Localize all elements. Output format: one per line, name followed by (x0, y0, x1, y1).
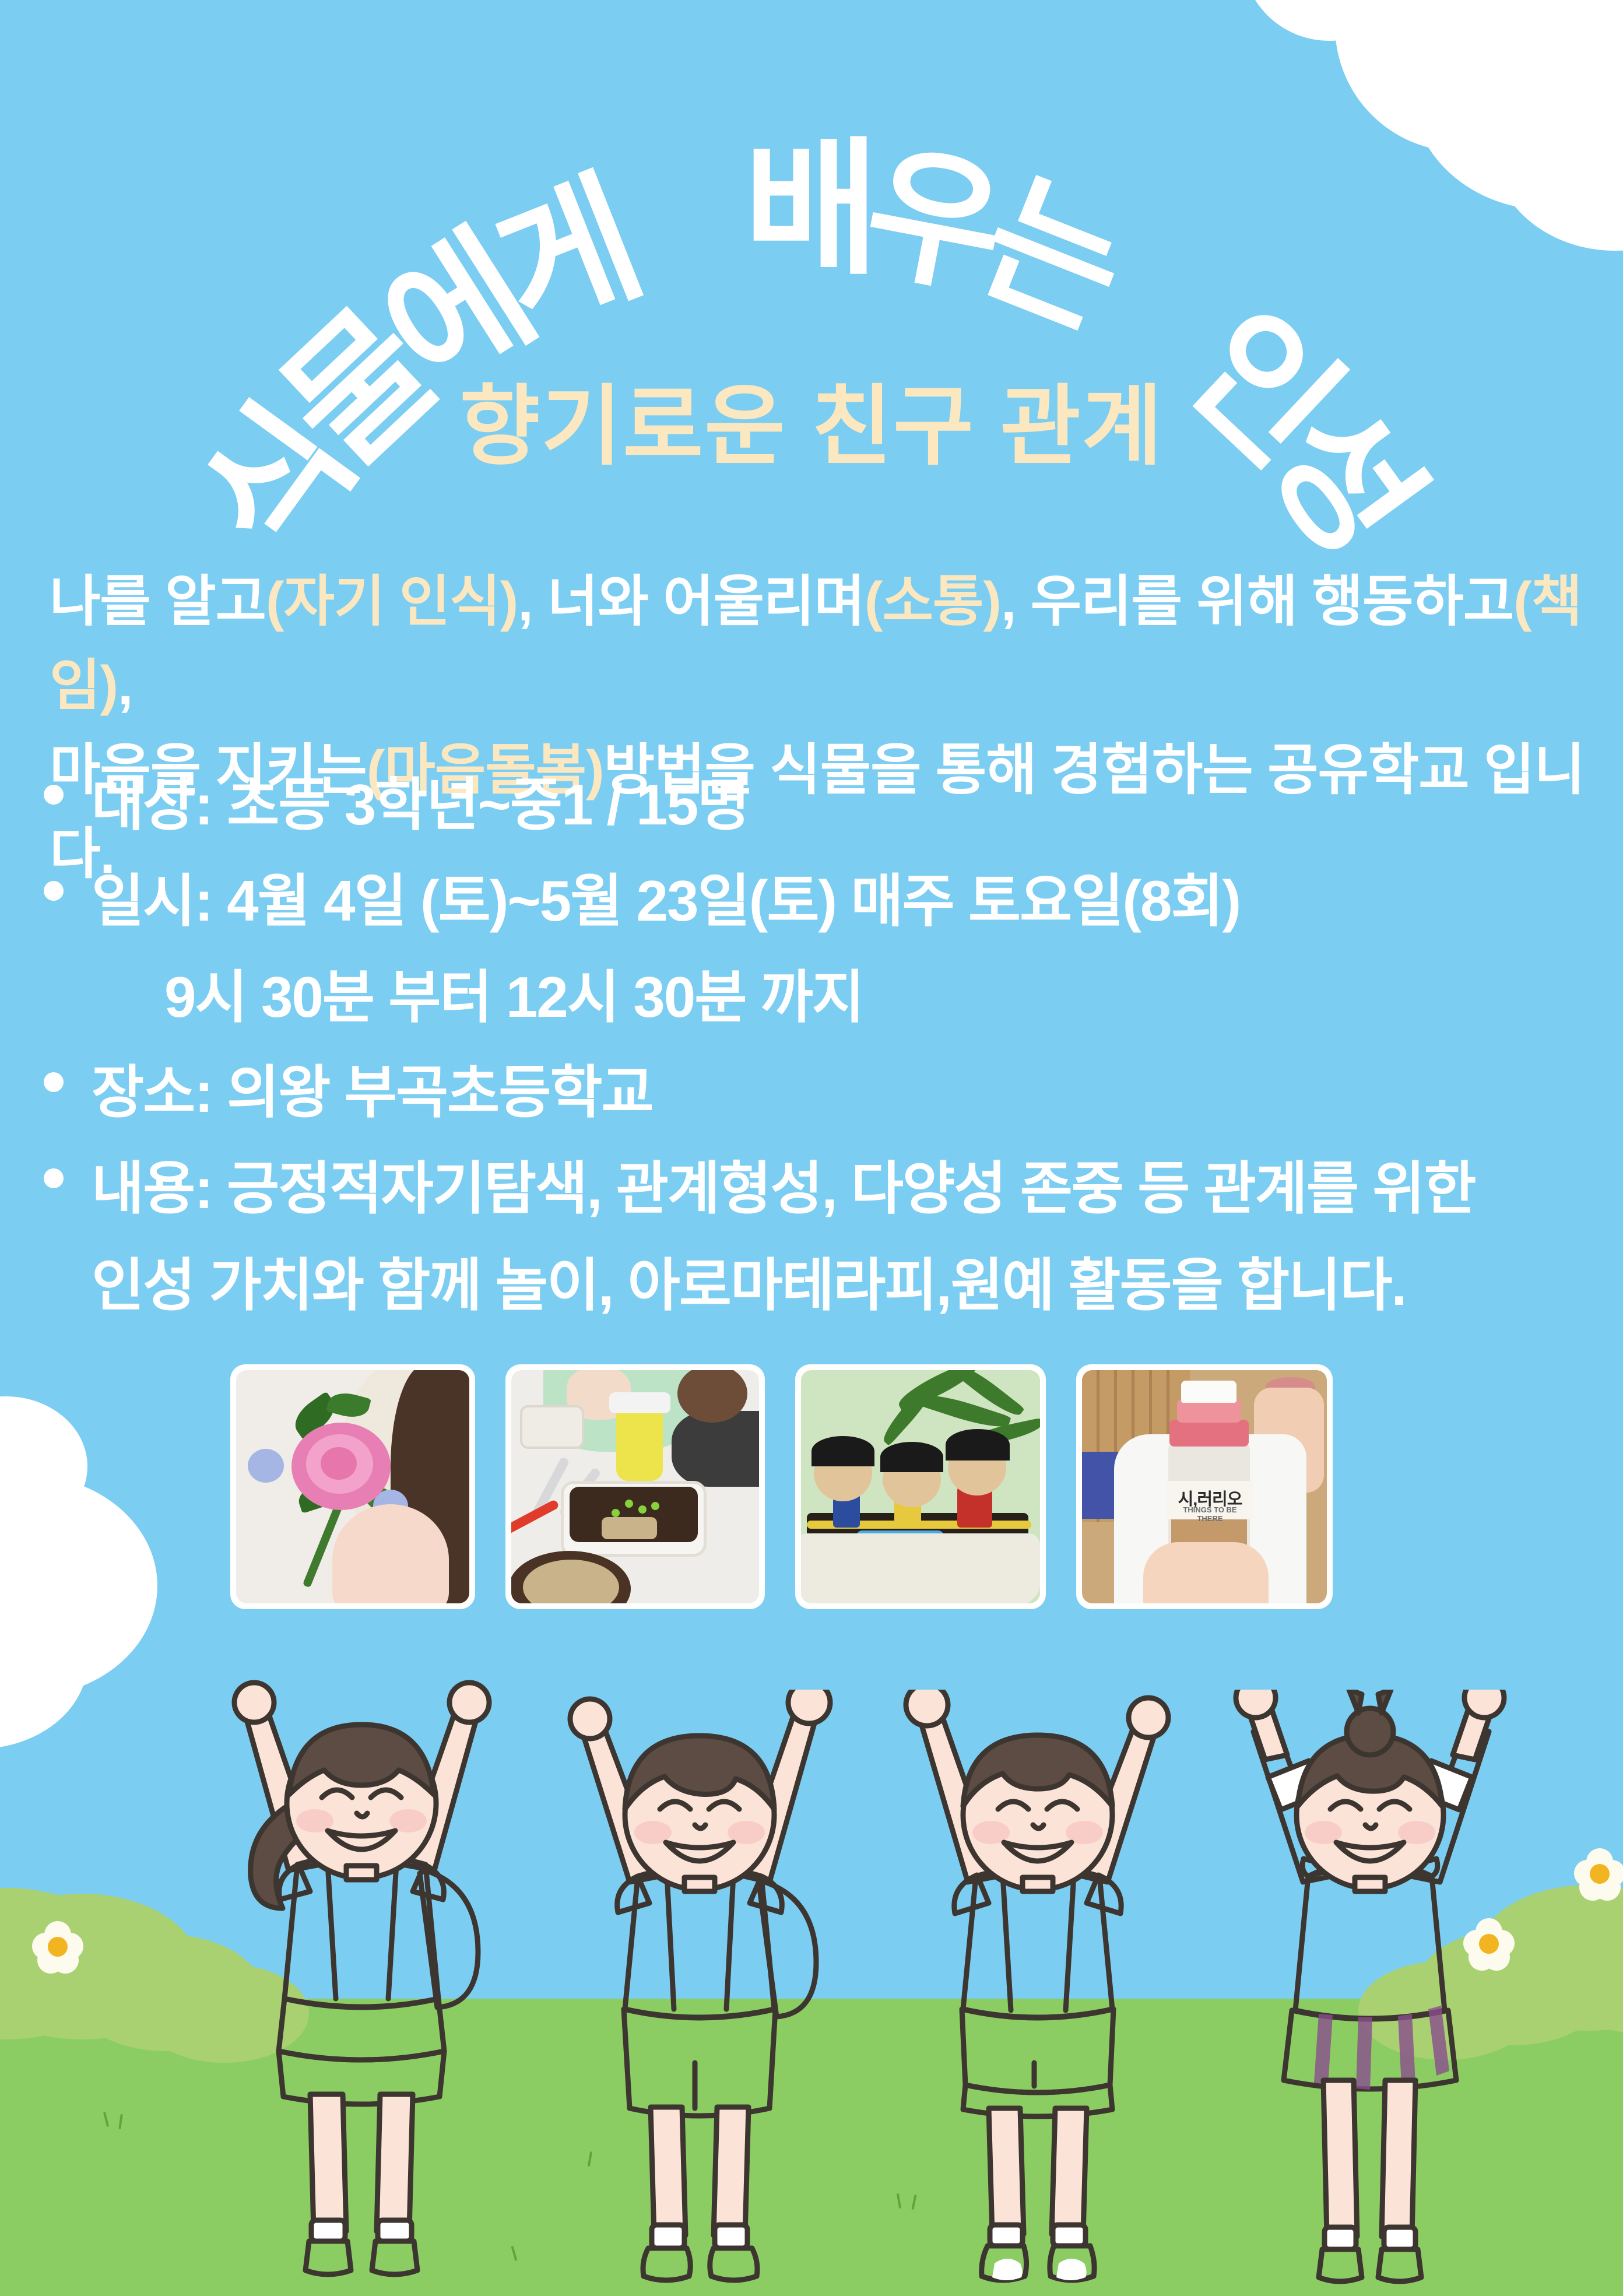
bullet-dot-icon (44, 785, 64, 805)
photo-painted-faces-pot[interactable] (795, 1364, 1046, 1609)
page-title-char: 는 (964, 163, 1144, 350)
bottle-label-subtext: THINGS TO BE THERE (1171, 1505, 1249, 1523)
lead-text: 나를 알고 (50, 571, 266, 633)
photo-strip: 시,러리오 THINGS TO BE THERE (230, 1364, 1420, 1609)
page-title-char: 배 (744, 136, 879, 283)
lead-text: , 너와 어울리며 (518, 571, 865, 633)
lead-text: , (118, 655, 132, 717)
bullet-dot-icon (44, 1072, 64, 1092)
list-item: 장소: 의왕 부곡초등학교 (35, 1051, 1597, 1133)
child-girl-pink (175, 1678, 548, 2296)
list-item-target: 대상: 초등 3학년~중1 / 15명 (92, 764, 749, 846)
list-item-schedule: 일시: 4월 4일 (토)~5월 23일(토) 매주 토요일(8회) (92, 860, 1240, 942)
list-item: 일시: 4월 4일 (토)~5월 23일(토) 매주 토요일(8회) (35, 860, 1597, 942)
child-boy-white (851, 1690, 1224, 2296)
page-title-char: 우 (855, 137, 1015, 307)
child-girl-cyan (1183, 1690, 1557, 2296)
bullet-dot-icon (44, 1168, 64, 1188)
lead-line-1: 나를 알고(자기 인식), 너와 어울리며(소통), 우리를 위해 행동하고(책… (50, 560, 1589, 728)
list-item: 대상: 초등 3학년~중1 / 15명 (35, 764, 1597, 846)
list-item-schedule-time: 9시 30분 부터 12시 30분 까지 (35, 956, 1597, 1038)
bullet-dot-icon (44, 881, 64, 901)
photo-aroma-bottle[interactable]: 시,러리오 THINGS TO BE THERE (1076, 1364, 1333, 1609)
lead-highlight-communication: (소통) (865, 571, 1001, 633)
page-title-char: 게 (479, 163, 659, 350)
page-subtitle: 향기로운 친구 관계 (0, 356, 1623, 482)
list-item-location: 장소: 의왕 부곡초등학교 (92, 1051, 653, 1133)
poster-root: 식물에게배우는인성 향기로운 친구 관계 나를 알고(자기 인식), 너와 어울… (0, 0, 1623, 2296)
photo-rose-arrangement[interactable] (230, 1364, 475, 1609)
list-item-content: 내용: 긍정적자기탐색, 관계형성, 다양성 존중 등 관계를 위한 (92, 1147, 1476, 1230)
list-item-content-cont: 인성 가치와 함께 놀이, 아로마테라피,원예 활동을 합니다. (35, 1244, 1597, 1326)
child-boy-green (513, 1690, 886, 2296)
lead-text: , 우리를 위해 행동하고 (1001, 571, 1513, 633)
lead-highlight-self-awareness: (자기 인식) (266, 571, 518, 633)
list-item: 내용: 긍정적자기탐색, 관계형성, 다양성 존중 등 관계를 위한 (35, 1147, 1597, 1230)
children-illustration (0, 1655, 1623, 2296)
photo-seed-planting[interactable] (505, 1364, 765, 1609)
detail-list: 대상: 초등 3학년~중1 / 15명 일시: 4월 4일 (토)~5월 23일… (35, 764, 1597, 1339)
